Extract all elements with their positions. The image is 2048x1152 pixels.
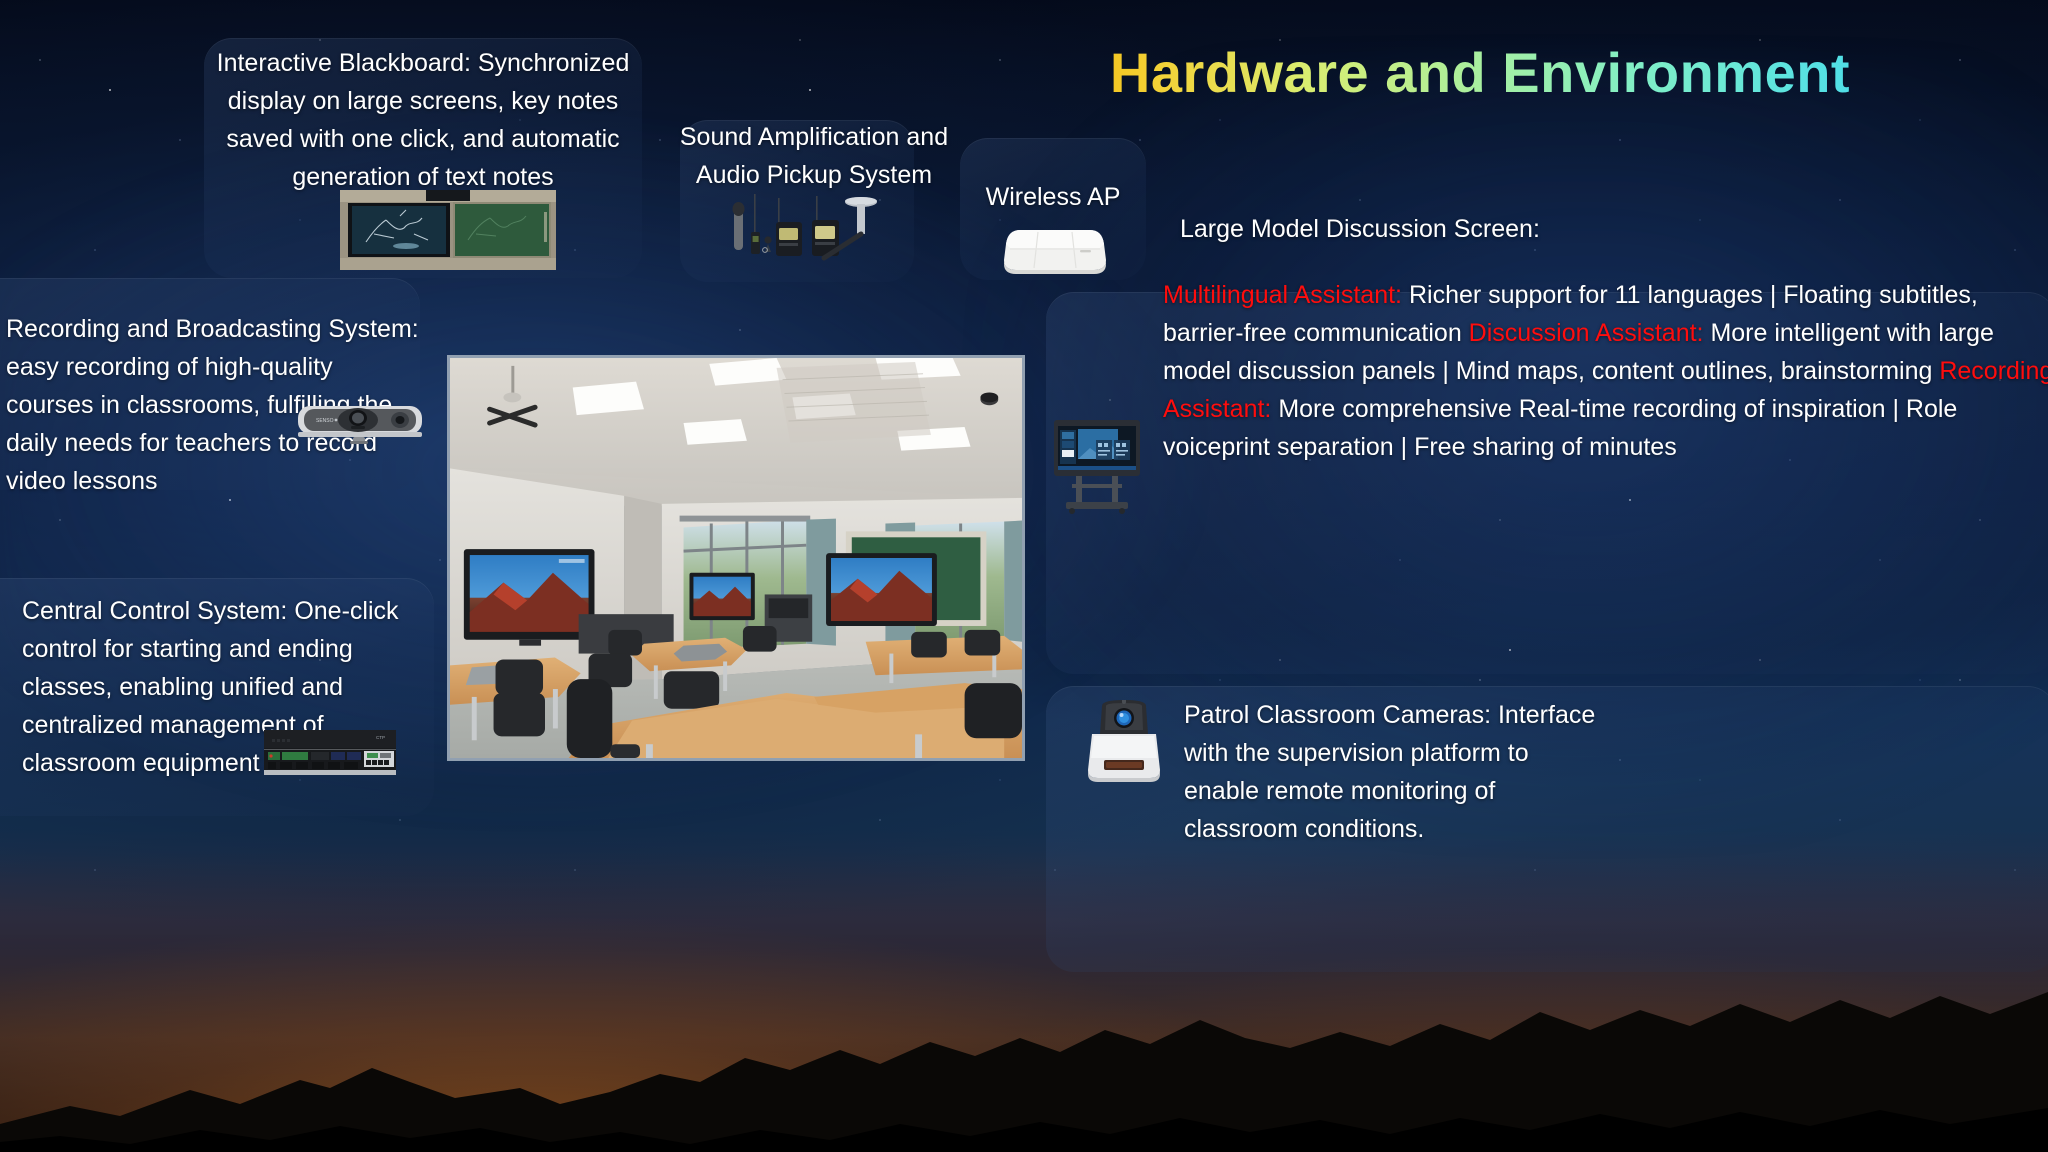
large-model-title: Large Model Discussion Screen: xyxy=(1180,210,1700,248)
recording-camera-photo: SENSO xyxy=(296,400,424,446)
interactive-blackboard-photo xyxy=(340,190,556,270)
classroom-illustration xyxy=(450,358,1022,758)
multilingual-assistant-heading: Multilingual Assistant: xyxy=(1163,281,1402,309)
blackboard-description: Interactive Blackboard: Synchronized dis… xyxy=(206,44,640,196)
wireless-access-point-photo xyxy=(1000,222,1110,276)
sound-system-line1: Sound Amplification and xyxy=(664,118,964,156)
wireless-ap-label: Wireless AP xyxy=(960,178,1146,216)
sound-system-label: Sound Amplification and Audio Pickup Sys… xyxy=(664,118,964,194)
central-control-rack-unit-photo: CTP xyxy=(264,730,396,776)
recording-assistant-body: More comprehensive Real-time recording o… xyxy=(1163,395,1957,461)
ptz-patrol-camera-photo xyxy=(1082,700,1166,782)
slide-canvas: Hardware and Environment Interactive Bla… xyxy=(0,0,2048,1152)
svg-text:CTP: CTP xyxy=(376,735,385,740)
svg-text:SENSO: SENSO xyxy=(316,418,334,424)
large-model-body: Multilingual Assistant: Richer support f… xyxy=(1163,276,2048,466)
patrol-camera-description: Patrol Classroom Cameras: Interface with… xyxy=(1184,696,1604,848)
wireless-microphone-set-photo xyxy=(724,192,884,274)
page-title: Hardware and Environment xyxy=(1020,40,1940,105)
interactive-discussion-screen-photo xyxy=(1052,418,1142,514)
sound-system-line2: Audio Pickup System xyxy=(664,156,964,194)
discussion-assistant-heading: Discussion Assistant: xyxy=(1469,319,1704,347)
smart-classroom-photo xyxy=(447,355,1025,761)
